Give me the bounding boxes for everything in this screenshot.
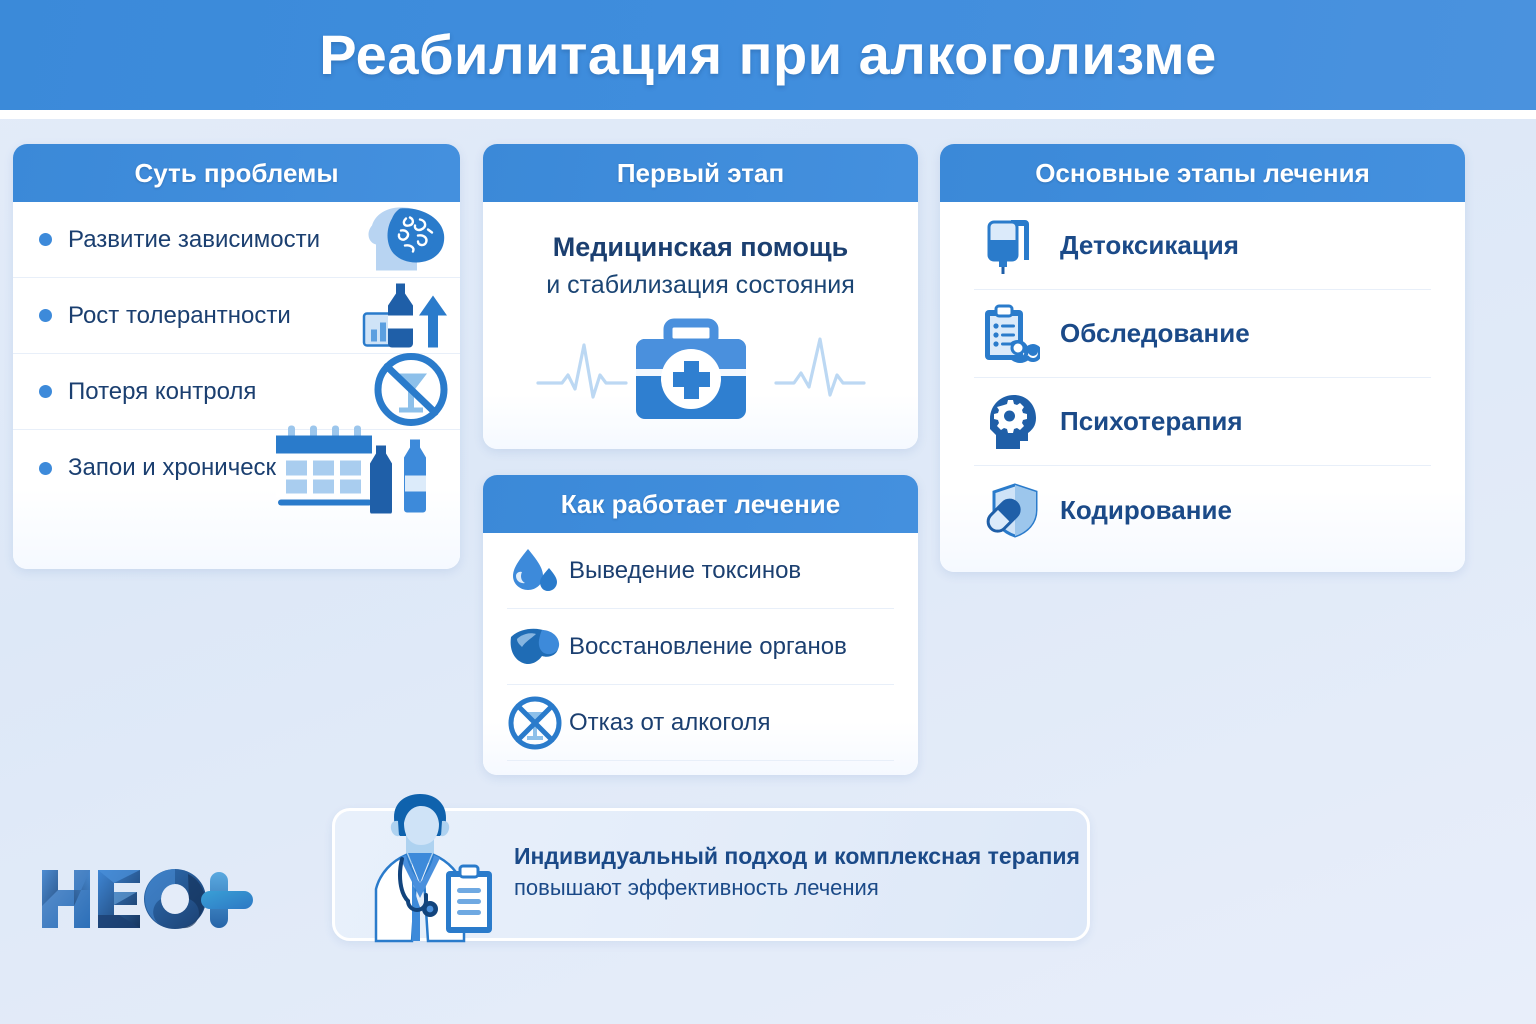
summary-line-2: повышают эффективность лечения bbox=[514, 872, 1074, 904]
list-item[interactable]: Запои и хроническая форма bbox=[13, 430, 460, 506]
card-problem: Суть проблемы Развитие зависимости bbox=[13, 144, 460, 569]
card-main-stages-title: Основные этапы лечения bbox=[1035, 158, 1370, 189]
list-item-label: Развитие зависимости bbox=[68, 225, 320, 254]
iv-drip-icon bbox=[974, 216, 1048, 276]
summary-line-1: Индивидуальный подход и комплексная тера… bbox=[514, 841, 1074, 872]
clipboard-stethoscope-icon bbox=[974, 304, 1048, 364]
card-how-it-works: Как работает лечение Выведение токсинов bbox=[483, 475, 918, 775]
card-problem-header: Суть проблемы bbox=[13, 144, 460, 202]
no-alcohol-icon bbox=[368, 349, 454, 434]
summary-banner-text: Индивидуальный подход и комплексная тера… bbox=[514, 841, 1074, 904]
brain-head-icon bbox=[362, 204, 454, 275]
list-item[interactable]: Потеря контроля bbox=[13, 354, 460, 430]
card-first-stage-body: Медицинская помощь и стабилизация состоя… bbox=[483, 202, 918, 449]
list-item-label: Потеря контроля bbox=[68, 377, 256, 406]
card-how-it-works-header: Как работает лечение bbox=[483, 475, 918, 533]
first-stage-line-2: и стабилизация состояния bbox=[483, 267, 918, 305]
list-item-label: Кодирование bbox=[1060, 495, 1232, 526]
card-main-stages-body: Детоксикация Обследовани bbox=[940, 202, 1465, 572]
list-item[interactable]: Детоксикация bbox=[974, 202, 1431, 290]
card-problem-title: Суть проблемы bbox=[134, 158, 338, 189]
card-first-stage-title: Первый этап bbox=[617, 158, 784, 189]
list-item-label: Выведение токсинов bbox=[569, 557, 801, 585]
card-main-stages-header: Основные этапы лечения bbox=[940, 144, 1465, 202]
list-item[interactable]: Восстановление органов bbox=[507, 609, 894, 685]
liver-icon bbox=[507, 626, 563, 668]
list-item-label: Запои и хроническая форма bbox=[68, 453, 386, 482]
head-gears-icon bbox=[974, 393, 1048, 451]
card-how-it-works-body: Выведение токсинов Восстановление органо… bbox=[483, 533, 918, 775]
list-item[interactable]: Кодирование bbox=[974, 466, 1431, 554]
list-item-label: Отказ от алкоголя bbox=[569, 709, 770, 737]
page-header: Реабилитация при алкоголизме bbox=[0, 0, 1536, 110]
pill-shield-icon bbox=[974, 481, 1048, 539]
first-stage-line-1: Медицинская помощь bbox=[483, 228, 918, 267]
medical-bag-heartbeat-icon bbox=[483, 317, 918, 425]
bullet-dot-icon bbox=[39, 462, 52, 475]
list-item-label: Рост толерантности bbox=[68, 301, 291, 330]
list-item[interactable]: Психотерапия bbox=[974, 378, 1431, 466]
header-divider bbox=[0, 110, 1536, 119]
list-item[interactable]: Развитие зависимости bbox=[13, 202, 460, 278]
card-problem-body: Развитие зависимости bbox=[13, 202, 460, 569]
doctor-clipboard-icon bbox=[350, 793, 510, 945]
card-first-stage: Первый этап Медицинская помощь и стабили… bbox=[483, 144, 918, 449]
no-alcohol-circle-icon bbox=[507, 695, 563, 751]
list-item[interactable]: Рост толерантности bbox=[13, 278, 460, 354]
bullet-dot-icon bbox=[39, 309, 52, 322]
card-first-stage-header: Первый этап bbox=[483, 144, 918, 202]
bullet-dot-icon bbox=[39, 233, 52, 246]
list-item-label: Психотерапия bbox=[1060, 406, 1243, 437]
card-main-stages: Основные этапы лечения Детоксикация bbox=[940, 144, 1465, 572]
card-how-it-works-title: Как работает лечение bbox=[561, 489, 840, 520]
first-stage-text: Медицинская помощь и стабилизация состоя… bbox=[483, 202, 918, 305]
list-item-label: Детоксикация bbox=[1060, 230, 1239, 261]
water-drop-icon bbox=[507, 546, 563, 596]
bullet-dot-icon bbox=[39, 385, 52, 398]
page-title: Реабилитация при алкоголизме bbox=[319, 27, 1217, 83]
list-item[interactable]: Обследование bbox=[974, 290, 1431, 378]
bottle-rising-arrow-icon bbox=[362, 277, 454, 354]
list-item-label: Обследование bbox=[1060, 318, 1250, 349]
list-item[interactable]: Выведение токсинов bbox=[507, 533, 894, 609]
list-item[interactable]: Отказ от алкоголя bbox=[507, 685, 894, 761]
list-item-label: Восстановление органов bbox=[569, 633, 847, 661]
neo-plus-logo[interactable] bbox=[38, 862, 258, 936]
